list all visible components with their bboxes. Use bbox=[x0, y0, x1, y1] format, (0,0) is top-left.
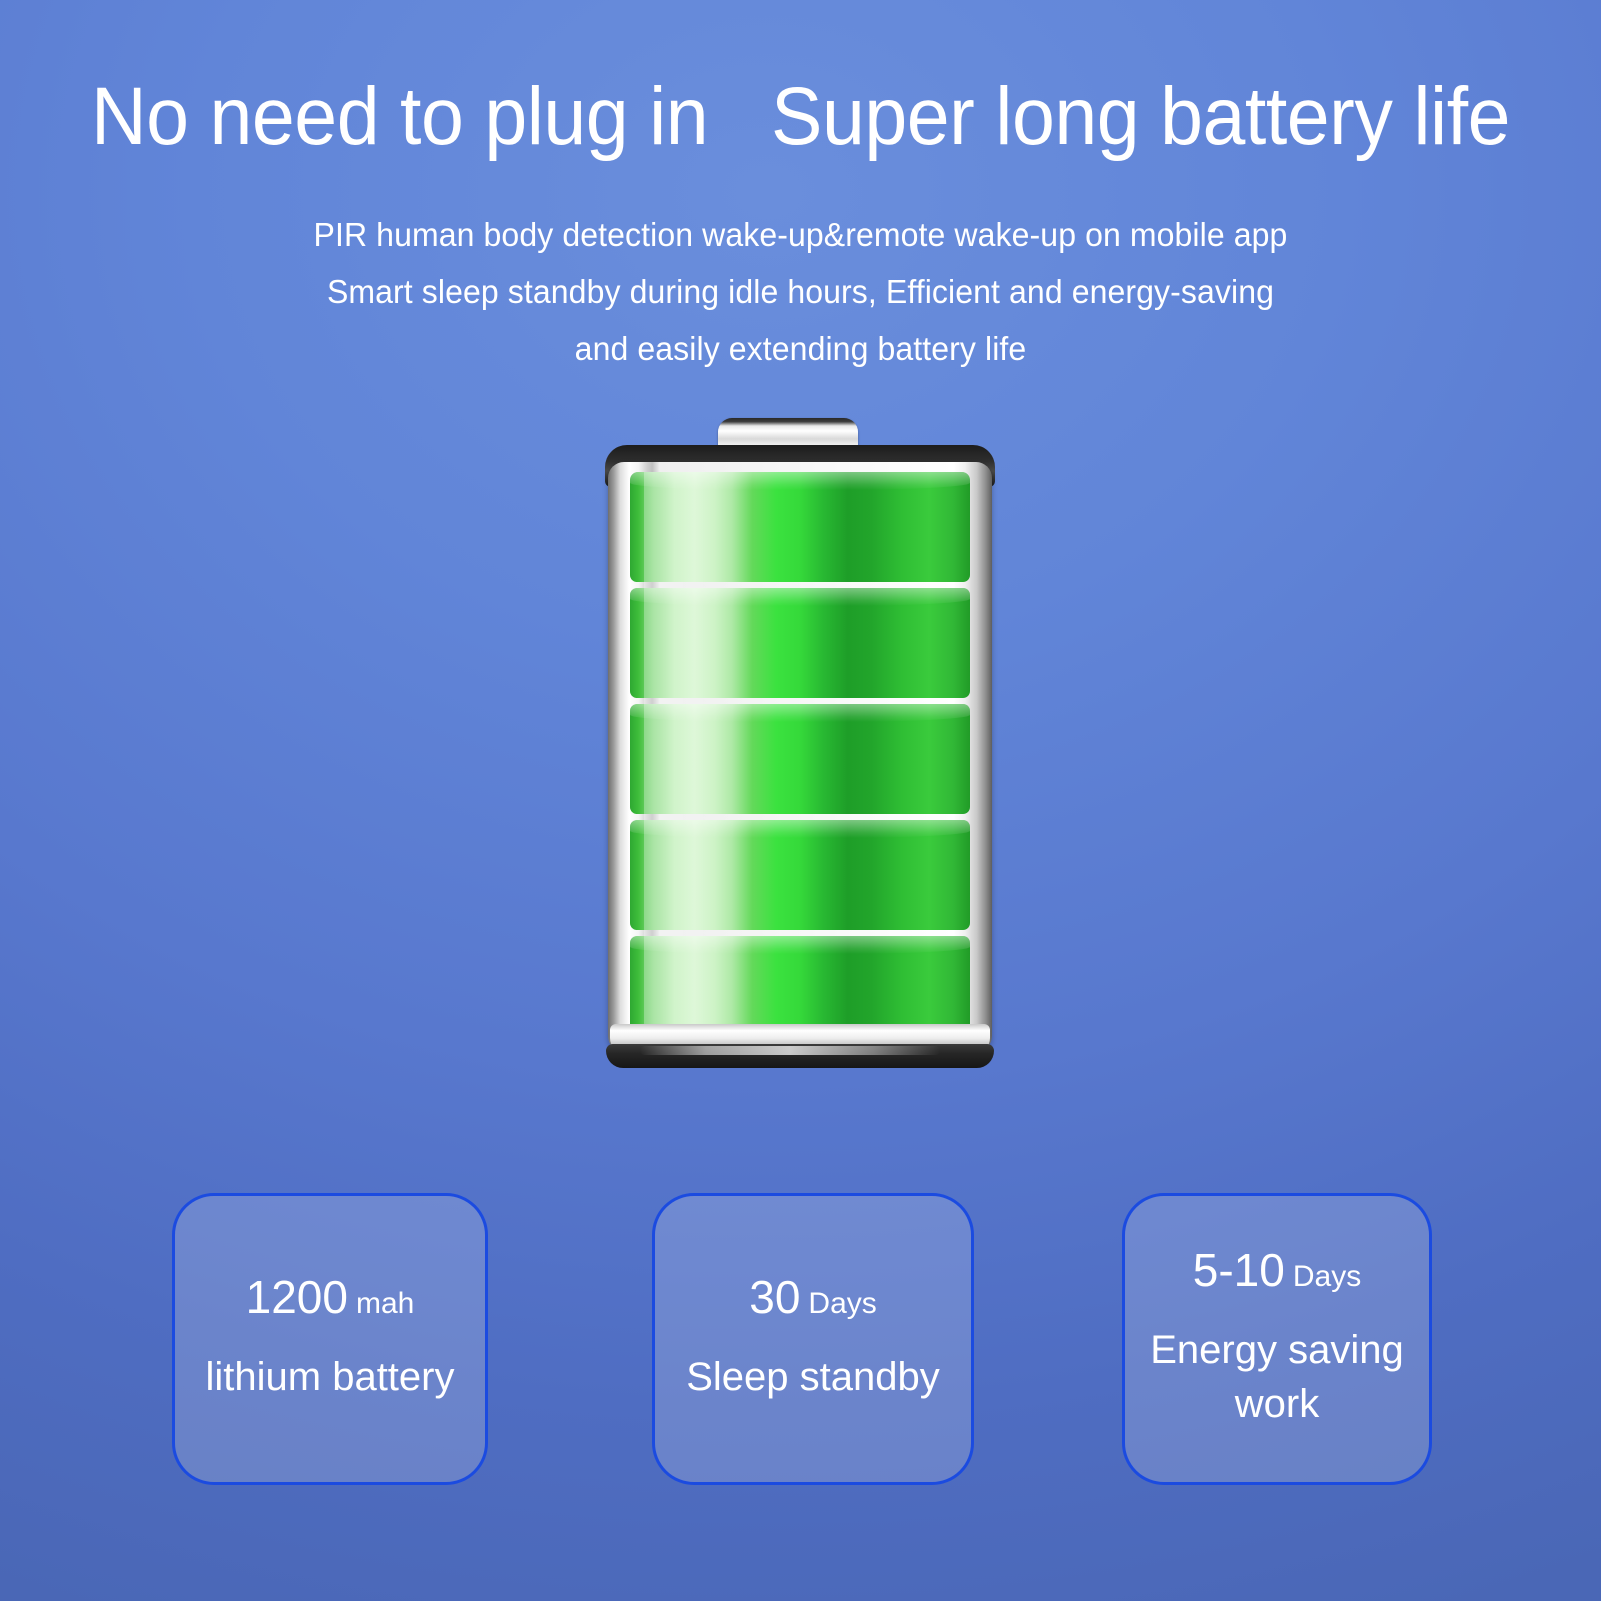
subtitle-line-2: Smart sleep standby during idle hours, E… bbox=[24, 263, 1577, 320]
battery-cell-3 bbox=[630, 704, 970, 814]
subtitle-line-3: and easily extending battery life bbox=[24, 320, 1577, 377]
subtitle-block: PIR human body detection wake-up&remote … bbox=[0, 206, 1601, 377]
card-value-number: 30 bbox=[749, 1271, 800, 1323]
battery-feature-poster: No need to plug in Super long battery li… bbox=[0, 0, 1601, 1601]
card-value-row: 30Days bbox=[749, 1274, 877, 1320]
card-value-row: 5-10Days bbox=[1193, 1247, 1361, 1293]
feature-card-row: 1200mah lithium battery 30Days Sleep sta… bbox=[0, 1193, 1601, 1493]
feature-card-capacity: 1200mah lithium battery bbox=[172, 1193, 488, 1485]
battery-bottom-highlight bbox=[640, 1046, 940, 1055]
battery-cell-stack bbox=[630, 472, 970, 1048]
card-value-number: 1200 bbox=[246, 1271, 348, 1323]
battery-full-icon bbox=[600, 418, 1000, 1070]
card-value-unit: mah bbox=[356, 1287, 414, 1320]
feature-card-sleep-standby: 30Days Sleep standby bbox=[652, 1193, 974, 1485]
card-value-number: 5-10 bbox=[1193, 1244, 1285, 1296]
battery-cell-4 bbox=[630, 588, 970, 698]
card-label: Sleep standby bbox=[672, 1350, 954, 1404]
feature-card-energy-saving: 5-10Days Energy saving work bbox=[1122, 1193, 1432, 1485]
subtitle-line-1: PIR human body detection wake-up&remote … bbox=[24, 206, 1577, 263]
battery-cell-2 bbox=[630, 820, 970, 930]
page-headline: No need to plug in Super long battery li… bbox=[48, 74, 1553, 160]
card-label: lithium battery bbox=[192, 1350, 469, 1404]
card-label: Energy saving work bbox=[1125, 1323, 1429, 1431]
card-value-row: 1200mah bbox=[246, 1274, 415, 1320]
card-value-unit: Days bbox=[808, 1287, 876, 1320]
battery-cell-5 bbox=[630, 472, 970, 582]
card-value-unit: Days bbox=[1293, 1260, 1361, 1293]
